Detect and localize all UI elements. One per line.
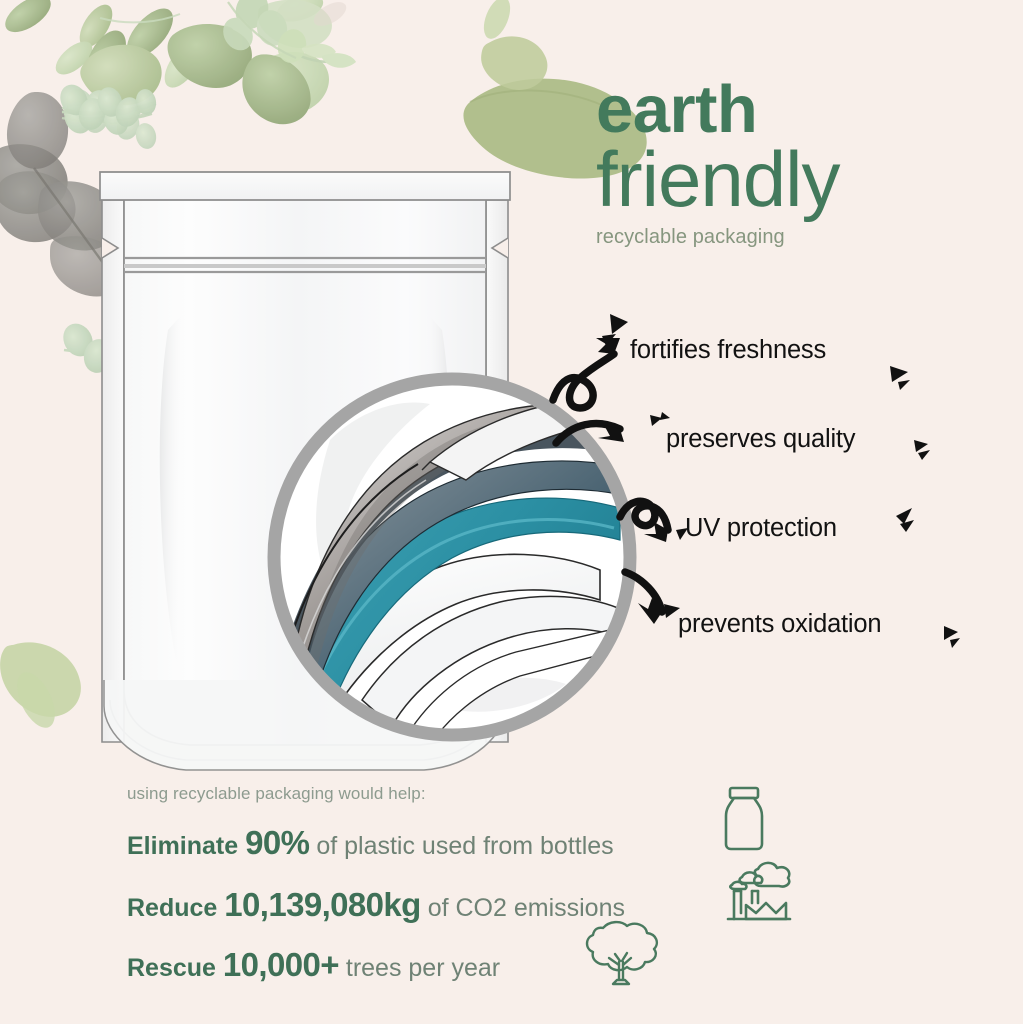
callout-fortifies-freshness: fortifies freshness (630, 336, 826, 365)
bottle-icon (716, 784, 772, 854)
headline-subtitle: recyclable packaging (596, 226, 1016, 249)
stat-row-reduce: Reduce 10,139,080kg of CO2 emissions (127, 886, 625, 924)
stat-verb: Rescue (127, 954, 216, 982)
callout-uv-protection: UV protection (685, 514, 837, 543)
stat-verb: Eliminate (127, 832, 238, 860)
stats-intro: using recyclable packaging would help: (127, 784, 426, 804)
stat-value: 10,000+ (223, 946, 339, 983)
stat-value: 10,139,080kg (224, 886, 420, 923)
stat-verb: Reduce (127, 894, 217, 922)
stat-row-rescue: Rescue 10,000+ trees per year (127, 946, 500, 984)
callout-prevents-oxidation: prevents oxidation (678, 610, 881, 639)
callout-preserves-quality: preserves quality (666, 425, 855, 454)
stat-tail: trees per year (346, 954, 500, 982)
tree-icon (573, 918, 665, 992)
infographic-poster: earth friendly recyclable packaging fort… (0, 0, 1023, 1024)
headline-block: earth friendly recyclable packaging (596, 78, 1016, 249)
factory-icon (718, 855, 794, 923)
stat-value: 90% (245, 824, 309, 861)
headline-line-1: earth (596, 78, 1016, 142)
stat-tail: of plastic used from bottles (316, 832, 613, 860)
headline-line-2: friendly (596, 144, 1016, 216)
stat-row-eliminate: Eliminate 90% of plastic used from bottl… (127, 824, 614, 862)
